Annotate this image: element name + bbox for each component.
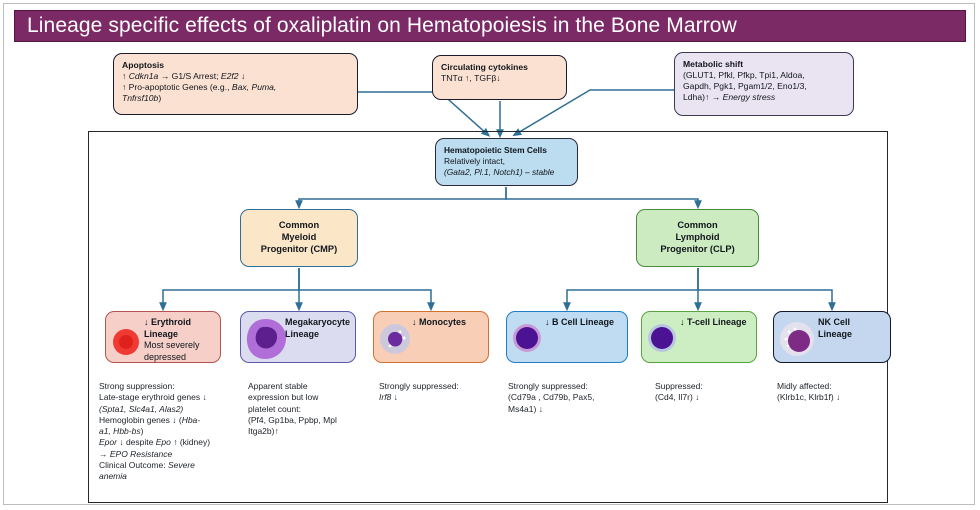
megakaryocyte-line-2: Lineage: [285, 329, 351, 341]
bcell-icon: [511, 322, 543, 354]
nk-desc-1: Midly affected:: [777, 381, 905, 392]
tcell-lineage-box[interactable]: ↓ T-cell Lineage: [641, 311, 757, 363]
erythroid-line-2: Lineage: [144, 329, 216, 341]
mega-desc-3: platelet count:: [248, 404, 376, 415]
hsc-line-2: (Gata2, Pl.1, Notch1) – stable: [444, 167, 569, 178]
metabolic-heading: Metabolic shift: [683, 59, 845, 70]
nkcell-icon: [778, 320, 816, 358]
ery-desc-4: Hemoglobin genes ↓ (Hba-: [99, 415, 249, 426]
cytokines-heading: Circulating cytokines: [441, 62, 558, 73]
erythroid-lineage-box[interactable]: ↓ Erythroid Lineage Most severely depres…: [105, 311, 221, 363]
cmp-line-2: Myeloid: [249, 232, 349, 244]
bcell-description: Strongly suppressed: (Cd79a , Cd79b, Pax…: [508, 381, 638, 415]
apoptosis-line-3: Tnfrsf10b): [122, 93, 349, 104]
nkcell-line-1: NK Cell Lineage: [818, 317, 886, 340]
apoptosis-line-1: ↑ Cdkn1a → G1/S Arrest; E2f2 ↓: [122, 71, 349, 82]
metabolic-line-3: Ldha)↑ → Energy stress: [683, 92, 845, 103]
mono-desc-2: Irf8 ↓: [379, 392, 501, 403]
mega-desc-1: Apparent stable: [248, 381, 376, 392]
erythroid-line-4: depressed: [144, 352, 216, 364]
mega-desc-4: (Pf4, Gp1ba, Ppbp, Mpl: [248, 415, 376, 426]
ery-desc-2: Late-stage erythroid genes ↓: [99, 392, 249, 403]
clp-line-3: Progenitor (CLP): [645, 244, 750, 256]
ery-desc-8: Clinical Outcome: Severe: [99, 460, 249, 471]
erythroid-description: Strong suppression: Late-stage erythroid…: [99, 381, 249, 483]
metabolic-line-1: (GLUT1, Pfkl, Pfkp, Tpi1, Aldoa,: [683, 70, 845, 81]
tcell-line-1: ↓ T-cell Lineage: [680, 317, 752, 329]
bcell-desc-1: Strongly suppressed:: [508, 381, 638, 392]
monocyte-description: Strongly suppressed: Irf8 ↓: [379, 381, 501, 404]
tcell-label: ↓ T-cell Lineage: [680, 317, 752, 329]
hsc-line-1: Relatively intact,: [444, 156, 569, 167]
monocyte-label: ↓ Monocytes: [412, 317, 484, 329]
page-title: Lineage specific effects of oxaliplatin …: [27, 14, 737, 38]
mega-desc-5: Itga2b)↑: [248, 426, 376, 437]
cmp-line-1: Common: [249, 220, 349, 232]
ery-desc-9: anemia: [99, 471, 249, 482]
ery-desc-5: a1, Hbb-bs): [99, 426, 249, 437]
monocyte-lineage-box[interactable]: ↓ Monocytes: [373, 311, 489, 363]
bcell-line-1: ↓ B Cell Lineage: [545, 317, 623, 329]
clp-line-2: Lymphoid: [645, 232, 750, 244]
bcell-label: ↓ B Cell Lineage: [545, 317, 623, 329]
diagram-canvas: Lineage specific effects of oxaliplatin …: [0, 0, 980, 510]
metabolic-line-2: Gapdh, Pgk1, Pgam1/2, Eno1/3,: [683, 81, 845, 92]
tcell-description: Suppressed: (Cd4, Il7r) ↓: [655, 381, 775, 404]
tcell-desc-2: (Cd4, Il7r) ↓: [655, 392, 775, 403]
common-myeloid-progenitor-box[interactable]: Common Myeloid Progenitor (CMP): [240, 209, 358, 267]
common-lymphoid-progenitor-box[interactable]: Common Lymphoid Progenitor (CLP): [636, 209, 759, 267]
nkcell-label: NK Cell Lineage: [818, 317, 886, 340]
cmp-line-3: Progenitor (CMP): [249, 244, 349, 256]
page-title-bar: Lineage specific effects of oxaliplatin …: [14, 10, 966, 42]
ery-desc-6: Epor ↓ despite Epo ↑ (kidney): [99, 437, 249, 448]
ery-desc-1: Strong suppression:: [99, 381, 249, 392]
mono-desc-1: Strongly suppressed:: [379, 381, 501, 392]
monocyte-icon: [378, 322, 412, 356]
metabolic-shift-box[interactable]: Metabolic shift (GLUT1, Pfkl, Pfkp, Tpi1…: [674, 52, 854, 116]
nkcell-lineage-box[interactable]: NK Cell Lineage: [773, 311, 891, 363]
monocyte-line-1: ↓ Monocytes: [412, 317, 484, 329]
ery-desc-7: → EPO Resistance: [99, 449, 249, 460]
erythroid-label: ↓ Erythroid Lineage Most severely depres…: [144, 317, 216, 363]
erythroid-line-3: Most severely: [144, 340, 216, 352]
megakaryocyte-label: Megakaryocyte Lineage: [285, 317, 351, 340]
megakaryocyte-icon: [243, 316, 289, 362]
erythrocyte-icon: [110, 326, 142, 358]
apoptosis-heading: Apoptosis: [122, 60, 349, 71]
apoptosis-box[interactable]: Apoptosis ↑ Cdkn1a → G1/S Arrest; E2f2 ↓…: [113, 53, 358, 115]
mega-desc-2: expression but low: [248, 392, 376, 403]
megakaryocyte-lineage-box[interactable]: Megakaryocyte Lineage: [240, 311, 356, 363]
clp-line-1: Common: [645, 220, 750, 232]
hsc-heading: Hematopoietic Stem Cells: [444, 145, 569, 156]
hematopoietic-stem-cells-box[interactable]: Hematopoietic Stem Cells Relatively inta…: [435, 138, 578, 186]
circulating-cytokines-box[interactable]: Circulating cytokines TNTα ↑, TGFβ↓: [432, 55, 567, 100]
erythroid-line-1: ↓ Erythroid: [144, 317, 216, 329]
bcell-lineage-box[interactable]: ↓ B Cell Lineage: [506, 311, 628, 363]
megakaryocyte-line-1: Megakaryocyte: [285, 317, 351, 329]
megakaryocyte-description: Apparent stable expression but low plate…: [248, 381, 376, 437]
bcell-desc-2: (Cd79a , Cd79b, Pax5,: [508, 392, 638, 403]
tcell-desc-1: Suppressed:: [655, 381, 775, 392]
cytokines-line-1: TNTα ↑, TGFβ↓: [441, 73, 558, 84]
nk-desc-2: (Klrb1c, Klrb1f) ↓: [777, 392, 905, 403]
nkcell-description: Midly affected: (Klrb1c, Klrb1f) ↓: [777, 381, 905, 404]
bcell-desc-3: Ms4a1) ↓: [508, 404, 638, 415]
apoptosis-line-2: ↑ Pro-apoptotic Genes (e.g., Bax, Puma,: [122, 82, 349, 93]
ery-desc-3: (Spta1, Slc4a1, Alas2): [99, 404, 249, 415]
tcell-icon: [646, 322, 678, 354]
